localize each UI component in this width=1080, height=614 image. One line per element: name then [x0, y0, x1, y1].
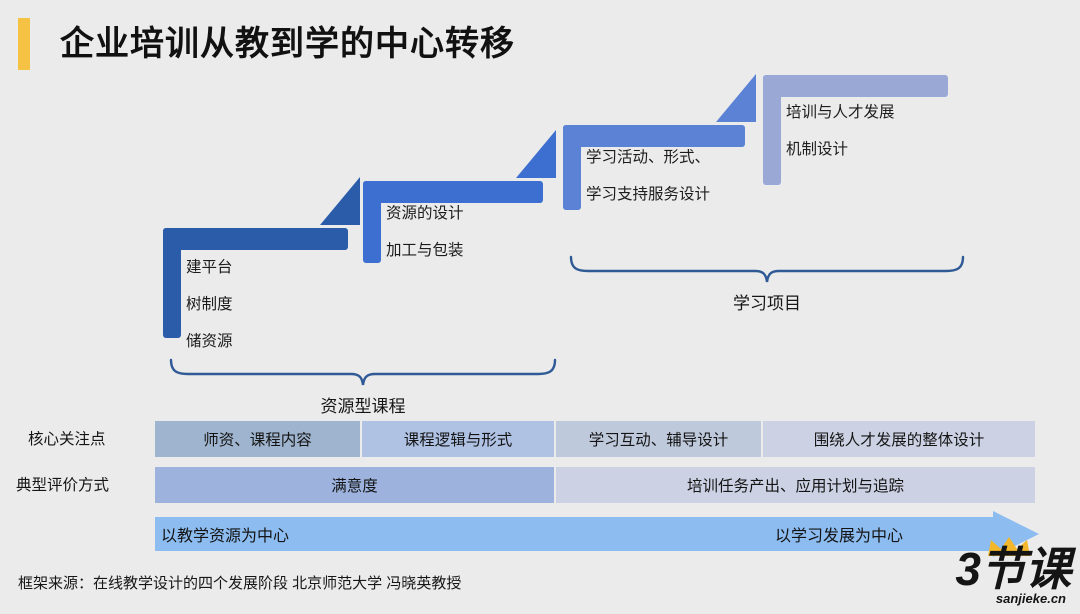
- band-left-text: 以教学资源为中心: [161, 517, 289, 551]
- logo-subtext: sanjieke.cn: [996, 591, 1066, 606]
- stage-2-text: 资源的设计 加工与包装: [386, 195, 464, 269]
- table-row-2-cell-2: 培训任务产出、应用计划与追踪: [556, 467, 1035, 503]
- brace-learning-project-label: 学习项目: [568, 289, 966, 314]
- stage-1-text: 建平台 树制度 储资源: [186, 249, 233, 360]
- stage-3-text: 学习活动、形式、 学习支持服务设计: [586, 139, 710, 213]
- stage-4-line-2: 机制设计: [786, 131, 895, 168]
- table-row-2-cell-1: 满意度: [155, 467, 554, 503]
- slide-canvas: 企业培训从教到学的中心转移 建平台 树制度 储资源 资源的设计 加工与包装 学习…: [0, 0, 1080, 614]
- page-title: 企业培训从教到学的中心转移: [60, 20, 515, 68]
- table-row-1-cell-3: 学习互动、辅导设计: [556, 421, 761, 457]
- stage-1-line-2: 树制度: [186, 286, 233, 323]
- brace-resource-course: [168, 358, 558, 388]
- stage-2-line-2: 加工与包装: [386, 232, 464, 269]
- stage-1-arrowhead-icon: [320, 177, 360, 225]
- brace-resource-course-label: 资源型课程: [168, 392, 558, 417]
- stage-4-line-1: 培训与人才发展: [786, 94, 895, 131]
- stage-1-horizontal-arm: [163, 228, 348, 250]
- table-row-1-cell-4: 围绕人才发展的整体设计: [763, 421, 1035, 457]
- stage-4-text: 培训与人才发展 机制设计: [786, 94, 895, 168]
- table-row-1-label: 核心关注点: [28, 427, 106, 449]
- stage-2-arrowhead-icon: [516, 130, 556, 178]
- stage-1-line-3: 储资源: [186, 323, 233, 360]
- table-row-1-cell-1: 师资、课程内容: [155, 421, 360, 457]
- stage-3-line-1: 学习活动、形式、: [586, 139, 710, 176]
- table-row-2-label: 典型评价方式: [16, 473, 109, 495]
- title-accent-bar: [18, 18, 30, 70]
- stage-3-arrowhead-icon: [716, 74, 756, 122]
- stage-1-line-1: 建平台: [186, 249, 233, 286]
- watermark-logo: 3节课 sanjieke.cn: [890, 534, 1070, 608]
- table-row-1-cell-2: 课程逻辑与形式: [362, 421, 554, 457]
- band-right-text: 以学习发展为中心: [775, 517, 903, 551]
- stage-3-line-2: 学习支持服务设计: [586, 176, 710, 213]
- brace-learning-project: [568, 255, 966, 285]
- stage-2-line-1: 资源的设计: [386, 195, 464, 232]
- logo-text: 3节课: [890, 544, 1070, 594]
- source-footnote: 框架来源：在线教学设计的四个发展阶段 北京师范大学 冯晓英教授: [18, 572, 461, 593]
